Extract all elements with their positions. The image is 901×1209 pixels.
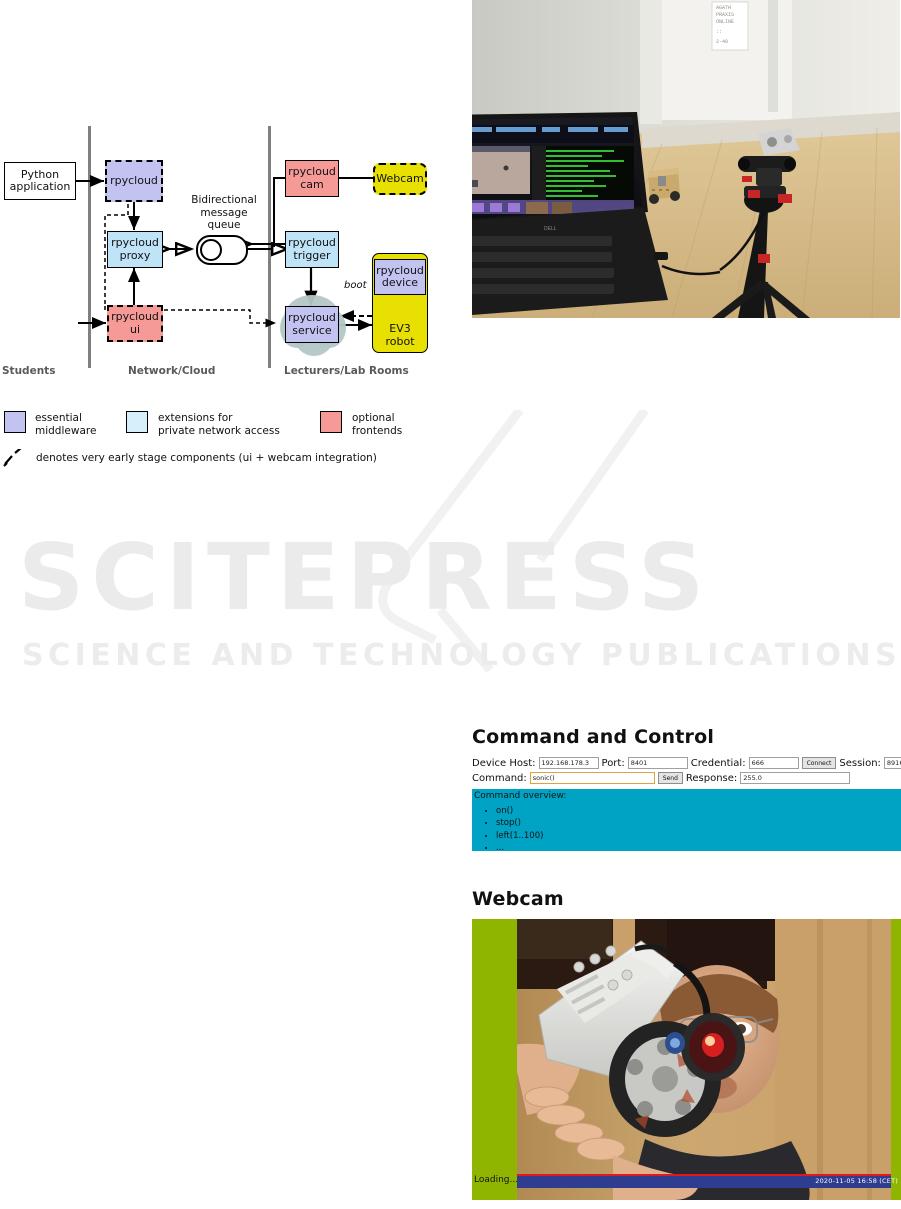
node-rpycloud-service: rpycloud service: [285, 306, 339, 343]
architecture-diagram: Bidirectional message queue boot Python …: [0, 120, 450, 390]
node-rpycloud-service-line1: rpycloud: [288, 312, 336, 324]
command-and-control-section: Command and Control Device Host: Port: C…: [472, 726, 901, 851]
scitepress-watermark: SCITEPRESS SCIENCE AND TECHNOLOGY PUBLIC…: [0, 470, 901, 720]
command-overview-item: stop(): [496, 817, 901, 829]
legend-essential-line2: middleware: [35, 425, 96, 437]
webcam-section: Webcam: [472, 888, 901, 1200]
command-overview-title: Command overview:: [474, 791, 901, 801]
command-form-row: Command: Send Response:: [472, 772, 901, 784]
queue-label-line2: message: [200, 207, 247, 219]
legend-text-optional-frontends: optional frontends: [352, 412, 402, 438]
command-overview-item: left(1..100): [496, 830, 901, 842]
node-rpycloud-device-line2: device: [382, 277, 418, 289]
webcam-stream-image: [517, 919, 891, 1200]
node-webcam: Webcam: [373, 163, 427, 195]
node-rpycloud-device: rpycloud device: [374, 259, 426, 295]
legend-optional-line1: optional: [352, 412, 395, 424]
boot-label: boot: [344, 280, 367, 291]
connection-form-row: Device Host: Port: Credential: Connect S…: [472, 757, 901, 769]
node-rpycloud-proxy-line2: proxy: [120, 250, 151, 262]
port-input[interactable]: [628, 757, 688, 769]
node-ev3-robot-line2: robot: [385, 336, 414, 348]
node-python-application: Python application: [4, 162, 76, 200]
legend-dashed-sample-icon: [3, 449, 27, 467]
node-ev3-robot-line1: EV3: [389, 323, 410, 335]
legend-text-private-network-extensions: extensions for private network access: [158, 412, 280, 438]
legend-essential-line1: essential: [35, 412, 82, 424]
svg-text:ONLINE: ONLINE: [716, 19, 734, 25]
svg-text:PRAXIS: PRAXIS: [716, 12, 734, 18]
queue-label-line3: queue: [208, 219, 241, 231]
svg-text:DELL: DELL: [544, 226, 557, 232]
node-rpycloud-proxy: rpycloud proxy: [107, 231, 163, 268]
legend-extensions-line2: private network access: [158, 425, 280, 437]
legend-swatch-private-network-extensions: [126, 411, 148, 433]
queue-label-line1: Bidirectional: [191, 194, 257, 206]
response-label: Response:: [686, 773, 737, 784]
lane-label-lecturers-lab-rooms: Lecturers/Lab Rooms: [284, 365, 409, 377]
watermark-subtitle: SCIENCE AND TECHNOLOGY PUBLICATIONS: [22, 638, 901, 673]
command-input[interactable]: [530, 772, 655, 784]
legend-note: denotes very early stage components (ui …: [36, 452, 377, 464]
webcam-timestamp: 2020-11-05 16:58 (CET): [815, 1177, 898, 1185]
command-overview-list: on() stop() left(1..100) ...: [474, 805, 901, 851]
svg-text:AGATH: AGATH: [716, 5, 731, 11]
credential-input[interactable]: [749, 757, 799, 769]
message-queue-label: Bidirectional message queue: [186, 194, 262, 232]
node-rpycloud-ui: rpycloud ui: [107, 305, 163, 342]
node-rpycloud-trigger: rpycloud trigger: [285, 231, 339, 268]
command-control-heading: Command and Control: [472, 726, 901, 748]
send-button[interactable]: Send: [658, 772, 683, 784]
message-queue-token: [200, 239, 222, 261]
session-input[interactable]: [884, 757, 901, 769]
node-rpycloud-cam: rpycloud cam: [285, 160, 339, 197]
diagram-legend: essential middleware extensions for priv…: [0, 405, 450, 475]
device-host-label: Device Host:: [472, 758, 536, 769]
node-rpycloud-trigger-line1: rpycloud: [288, 237, 336, 249]
node-rpycloud-service-line2: service: [292, 325, 331, 337]
connect-button[interactable]: Connect: [802, 757, 837, 769]
lab-setup-photo: AGATHPRAXIS ONLINE::2-40: [472, 0, 900, 318]
command-overview-item: ...: [496, 842, 901, 851]
node-webcam-label: Webcam: [376, 173, 424, 185]
webcam-heading: Webcam: [472, 888, 901, 910]
lane-label-students: Students: [2, 365, 55, 377]
legend-swatch-essential-middleware: [4, 411, 26, 433]
command-overview-item: on(): [496, 805, 901, 817]
node-rpycloud-proxy-line1: rpycloud: [111, 237, 159, 249]
node-rpycloud-ui-line2: ui: [130, 324, 140, 336]
watermark-title: SCITEPRESS: [18, 532, 888, 624]
node-rpycloud-cam-line1: rpycloud: [288, 166, 336, 178]
session-label: Session:: [839, 758, 881, 769]
legend-swatch-optional-frontends: [320, 411, 342, 433]
webcam-loading-status: Loading...: [474, 1175, 518, 1185]
node-rpycloud: rpycloud: [105, 160, 163, 202]
lane-label-network-cloud: Network/Cloud: [128, 365, 215, 377]
legend-optional-line2: frontends: [352, 425, 402, 437]
legend-text-essential-middleware: essential middleware: [35, 412, 96, 438]
port-label: Port:: [602, 758, 625, 769]
command-label: Command:: [472, 773, 527, 784]
svg-text:2-40: 2-40: [716, 39, 728, 45]
node-rpycloud-trigger-line2: trigger: [293, 250, 330, 262]
node-rpycloud-ui-line1: rpycloud: [111, 311, 159, 323]
node-python-application-line2: application: [10, 181, 71, 193]
credential-label: Credential:: [691, 758, 746, 769]
device-host-input[interactable]: [539, 757, 599, 769]
node-rpycloud-label: rpycloud: [110, 175, 158, 187]
webcam-frame: Loading... 2020-11-05 16:58 (CET): [472, 919, 901, 1200]
node-rpycloud-cam-line2: cam: [300, 179, 324, 191]
svg-text:::: ::: [716, 29, 722, 35]
response-output: [740, 772, 850, 784]
legend-extensions-line1: extensions for: [158, 412, 232, 424]
command-overview-panel: Command overview: on() stop() left(1..10…: [472, 789, 901, 851]
